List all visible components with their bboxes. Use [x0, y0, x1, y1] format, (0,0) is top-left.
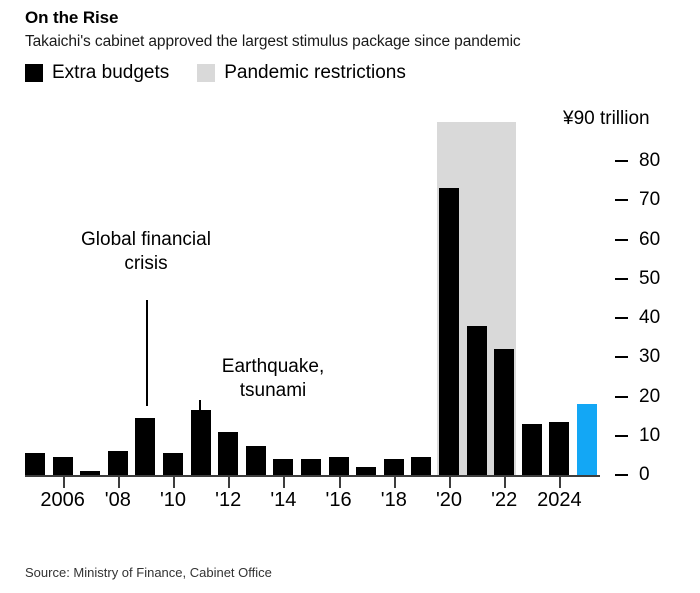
bar-2021 — [467, 326, 487, 475]
x-tick-2014 — [283, 477, 285, 488]
x-tick-label-2014: '14 — [270, 489, 296, 512]
x-tick-label-2016: '16 — [326, 489, 352, 512]
source-note: Source: Ministry of Finance, Cabinet Off… — [25, 565, 272, 580]
x-tick-2020 — [449, 477, 451, 488]
y-tick-dash-icon — [615, 356, 628, 358]
y-tick-label-50: 50 — [639, 268, 660, 290]
x-tick-label-2006: 2006 — [40, 489, 85, 512]
bar-2013 — [246, 446, 266, 475]
y-tick-label-30: 30 — [639, 346, 660, 368]
annotation-leader-line-0 — [146, 300, 148, 406]
y-tick-dash-icon — [615, 278, 628, 280]
chart-container: On the Rise Takaichi's cabinet approved … — [0, 0, 700, 593]
y-tick-50: 50 — [615, 268, 660, 290]
y-tick-0: 0 — [615, 464, 650, 486]
bar-2012 — [218, 432, 238, 475]
bar-2022 — [494, 349, 514, 475]
annotation-text-0: Global financial crisis — [36, 228, 256, 277]
bar-2010 — [163, 453, 183, 475]
y-tick-dash-icon — [615, 435, 628, 437]
bar-2020 — [439, 188, 459, 475]
x-tick-label-2024: 2024 — [537, 489, 582, 512]
y-tick-dash-icon — [615, 317, 628, 319]
x-tick-2024 — [559, 477, 561, 488]
x-tick-2016 — [339, 477, 341, 488]
x-tick-2008 — [118, 477, 120, 488]
x-tick-2010 — [173, 477, 175, 488]
y-tick-60: 60 — [615, 229, 660, 251]
bar-2011 — [191, 410, 211, 475]
y-tick-dash-icon — [615, 239, 628, 241]
x-axis-baseline — [25, 475, 600, 477]
x-tick-label-2010: '10 — [160, 489, 186, 512]
bar-2016 — [329, 457, 349, 475]
y-tick-70: 70 — [615, 189, 660, 211]
bar-2018 — [384, 459, 404, 475]
x-tick-label-2020: '20 — [436, 489, 462, 512]
x-tick-2018 — [394, 477, 396, 488]
x-tick-label-2022: '22 — [491, 489, 517, 512]
y-tick-40: 40 — [615, 307, 660, 329]
x-tick-label-2008: '08 — [105, 489, 131, 512]
x-tick-label-2018: '18 — [381, 489, 407, 512]
x-tick-2022 — [504, 477, 506, 488]
y-tick-label-10: 10 — [639, 425, 660, 447]
bar-2005 — [25, 453, 45, 475]
y-tick-label-60: 60 — [639, 229, 660, 251]
y-tick-10: 10 — [615, 425, 660, 447]
bar-2008 — [108, 451, 128, 475]
y-tick-dash-icon — [615, 160, 628, 162]
bar-2023 — [522, 424, 542, 475]
y-tick-label-40: 40 — [639, 307, 660, 329]
bar-2009 — [135, 418, 155, 475]
x-tick-2012 — [228, 477, 230, 488]
bar-2019 — [411, 457, 431, 475]
bar-2006 — [53, 457, 73, 475]
y-tick-dash-icon — [615, 396, 628, 398]
bar-2015 — [301, 459, 321, 475]
bar-2024 — [549, 422, 569, 475]
bar-2014 — [273, 459, 293, 475]
y-tick-20: 20 — [615, 386, 660, 408]
x-tick-label-2012: '12 — [215, 489, 241, 512]
y-tick-dash-icon — [615, 199, 628, 201]
y-tick-label-80: 80 — [639, 150, 660, 172]
y-tick-dash-icon — [615, 474, 628, 476]
y-tick-80: 80 — [615, 150, 660, 172]
bar-2017 — [356, 467, 376, 475]
y-tick-30: 30 — [615, 346, 660, 368]
y-tick-label-70: 70 — [639, 189, 660, 211]
annotation-text-1: Earthquake, tsunami — [163, 355, 383, 404]
bar-2025 — [577, 404, 597, 475]
y-tick-label-0: 0 — [639, 464, 650, 486]
annotation-leader-line-1 — [199, 400, 201, 419]
y-tick-label-20: 20 — [639, 386, 660, 408]
x-tick-2006 — [63, 477, 65, 488]
